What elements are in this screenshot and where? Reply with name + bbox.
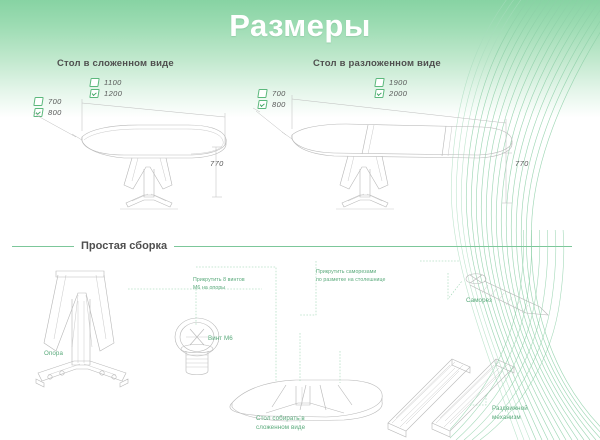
part-label-bolt-m6: Винт М6 — [208, 334, 233, 343]
slide-mechanism-drawing — [388, 359, 514, 437]
self-tapping-screw-drawing — [466, 274, 548, 315]
callout-connectors — [128, 261, 486, 423]
assembly-heading: Простая сборка — [74, 240, 174, 252]
page-title: Размеры — [0, 8, 600, 44]
support-drawing — [36, 271, 128, 387]
part-label-support: Опора — [44, 349, 63, 358]
assembly-divider: Простая сборка — [12, 240, 572, 252]
assembled-table-drawing — [230, 333, 382, 421]
part-label-assemble-note: Стол собирать в сложенном виде — [256, 414, 326, 433]
section-heading-unfolded: Стол в разложенном виде — [313, 58, 441, 69]
bolt-m6-drawing — [175, 318, 219, 375]
page-root: Размеры Стол в сложенном виде — [0, 0, 600, 440]
part-label-self-tapping-screw: Саморез — [466, 296, 492, 305]
divider-line-right — [174, 246, 572, 247]
divider-line-left — [12, 246, 74, 247]
section-heading-folded: Стол в сложенном виде — [57, 58, 174, 69]
unfolded-table-drawing — [250, 85, 550, 215]
folded-table-drawing — [20, 85, 270, 215]
part-label-slide-mechanism: Раздвижной механизм — [492, 404, 554, 423]
callout-screws-to-legs: Прикрутить 8 винтов М6 на опоры — [193, 276, 267, 292]
callout-self-tapping-to-top: Прикрутить саморезами по разметке на сто… — [316, 268, 416, 284]
